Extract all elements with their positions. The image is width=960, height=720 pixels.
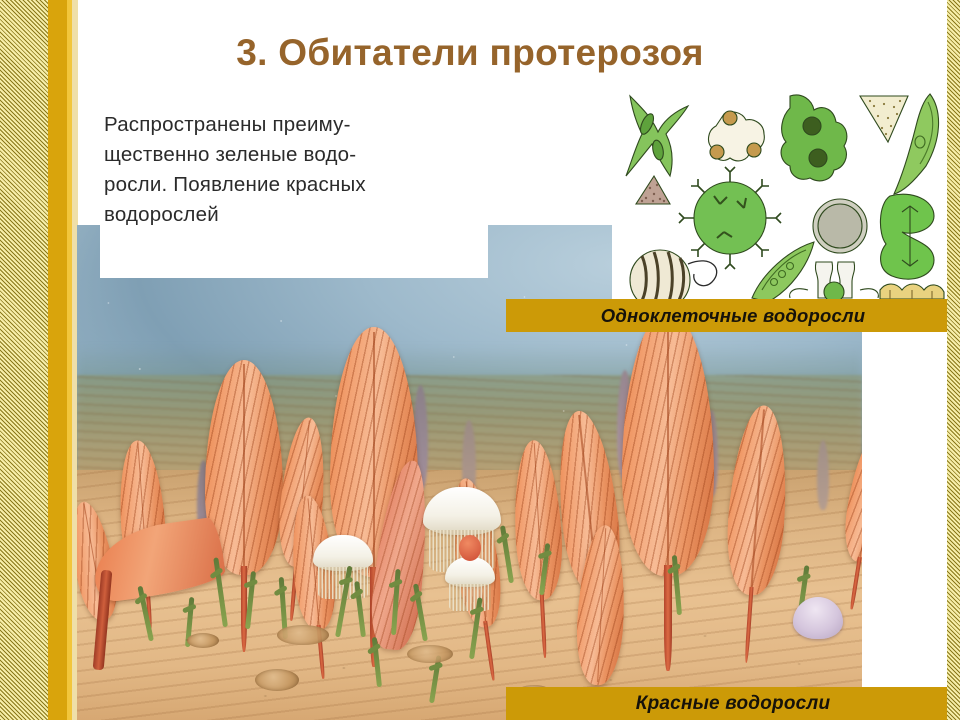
page-title: 3. Обитатели протерозоя	[78, 24, 862, 82]
description-text: Распространены преиму- щественно зеленые…	[104, 110, 494, 230]
caption-unicellular-algae: Одноклеточные водоросли	[506, 299, 960, 332]
alga-round-cell	[813, 199, 867, 253]
caption-red-algae: Красные водоросли	[506, 687, 960, 720]
algae-svg	[612, 84, 947, 299]
alga-star-cell	[626, 96, 688, 176]
unicellular-algae-illustration	[612, 84, 947, 299]
alga-spiny-sphere	[679, 167, 781, 269]
alga-yellow-cell-row	[880, 284, 944, 299]
slide-root: 3. Обитатели протерозоя	[0, 0, 960, 720]
left-gold-band	[48, 0, 67, 720]
right-hatched-border	[947, 0, 960, 720]
alga-triradiate-cell	[709, 111, 765, 161]
alga-desmid-cell	[880, 194, 934, 279]
alga-lobed-cell	[781, 95, 847, 181]
left-hatched-border	[0, 0, 48, 720]
alga-striped-sphere	[630, 250, 717, 299]
